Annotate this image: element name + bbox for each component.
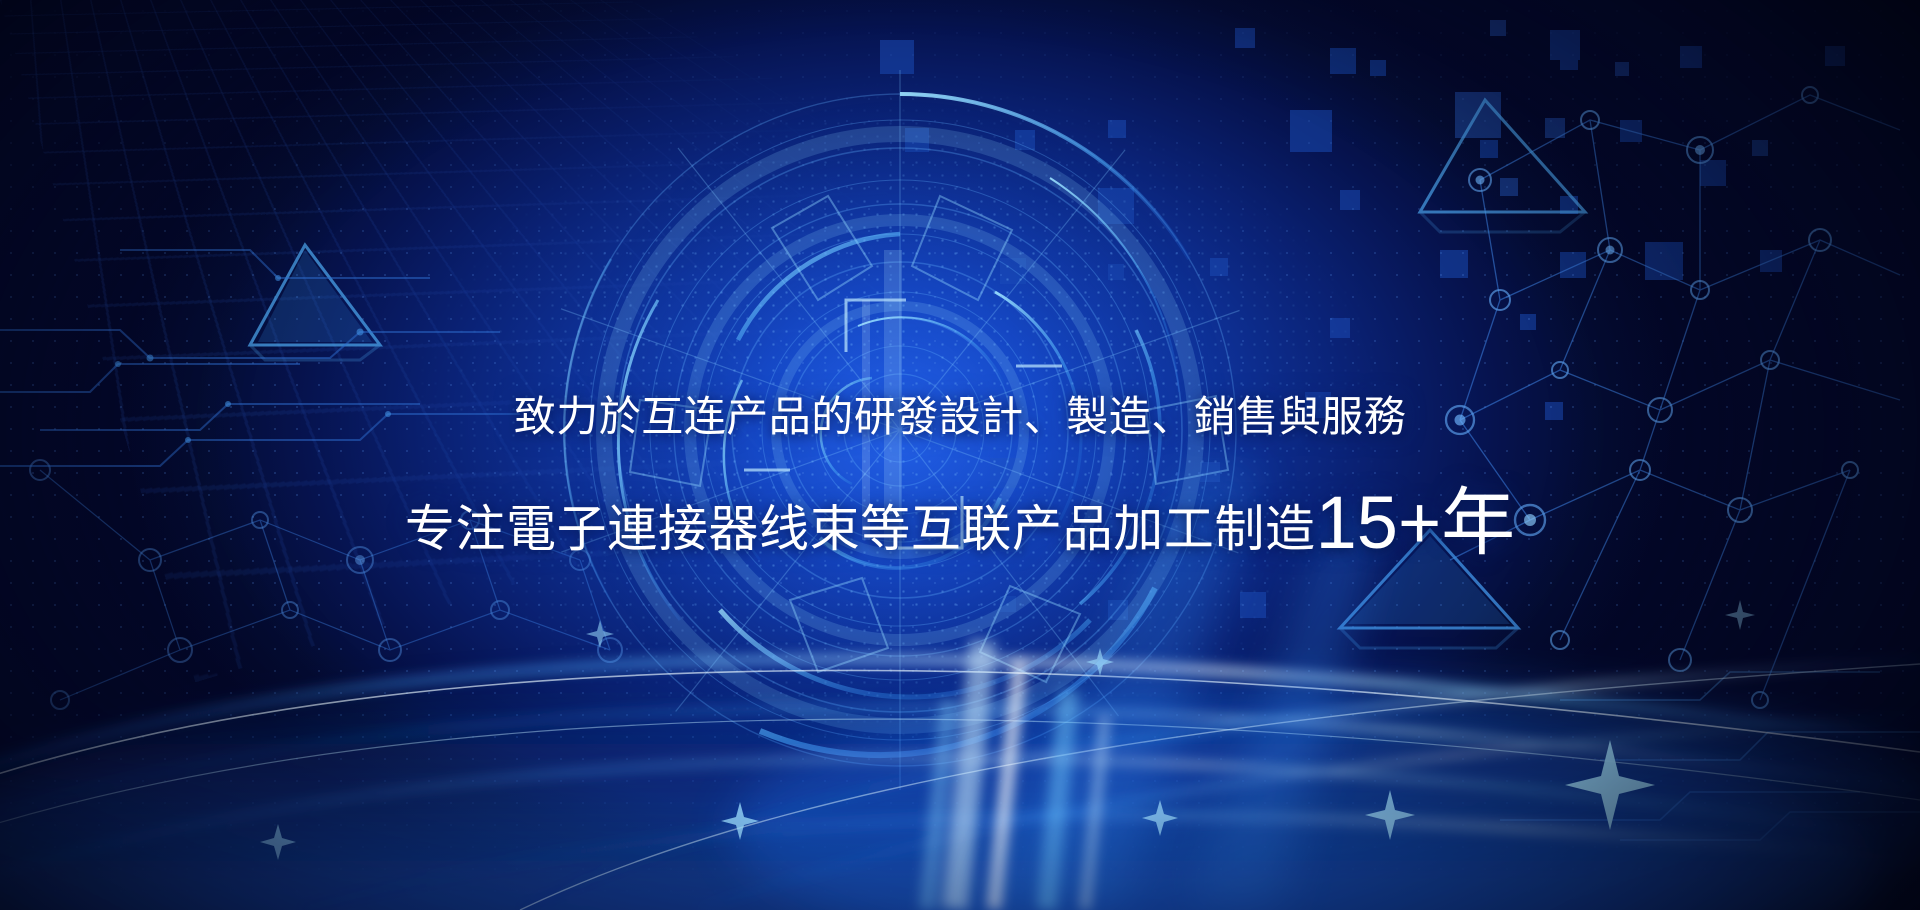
headline-block: 致力於互连产品的研發設計、製造、銷售與服務 专注電子連接器线束等互联产品加工制造…: [0, 396, 1920, 560]
headline-line-2-prefix: 专注電子連接器线束等互联产品加工制造: [405, 501, 1316, 557]
headline-years-highlight: 15+年: [1316, 481, 1516, 564]
hero-banner: 致力於互连产品的研發設計、製造、銷售與服務 专注電子連接器线束等互联产品加工制造…: [0, 0, 1920, 910]
headline-line-1: 致力於互连产品的研發設計、製造、銷售與服務: [0, 396, 1920, 438]
headline-line-2: 专注電子連接器线束等互联产品加工制造15+年: [0, 486, 1920, 560]
